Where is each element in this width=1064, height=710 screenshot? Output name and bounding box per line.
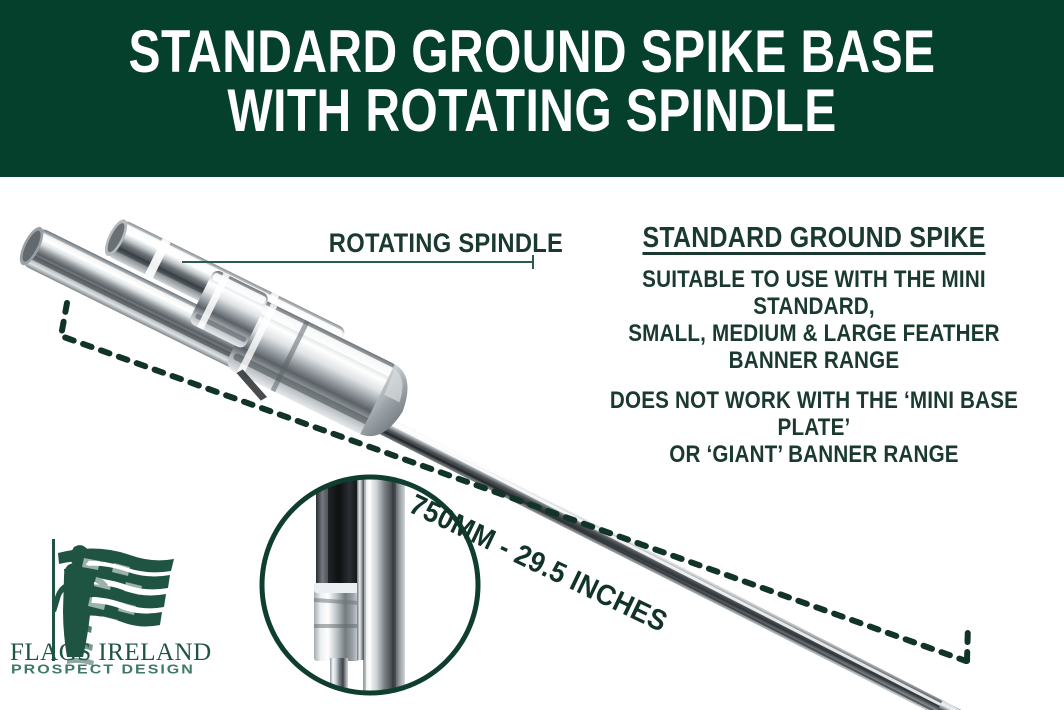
detail-inset	[258, 465, 482, 703]
info-paragraph-incompatible: DOES NOT WORK WITH THE ‘MINI BASE PLATE’…	[599, 387, 1029, 468]
spike-info-block: STANDARD GROUND SPIKE SUITABLE TO USE WI…	[599, 222, 1029, 468]
logo-sub-wordmark: PROSPECT DESIGN	[11, 664, 176, 676]
header-banner: STANDARD GROUND SPIKE BASEWITH ROTATING …	[0, 0, 1064, 177]
callout-leader-line	[182, 261, 533, 263]
rotating-spindle-callout-label: ROTATING SPINDLE	[329, 228, 540, 258]
callout-leader-tick	[532, 255, 534, 269]
dimension-label: 750MM - 29.5 INCHES	[404, 489, 672, 640]
title-line-2: WITH ROTATING SPINDLE	[227, 77, 836, 144]
info-heading: STANDARD GROUND SPIKE	[599, 222, 1029, 255]
logo-wordmark: FLAGS IRELAND	[10, 640, 175, 665]
infographic-canvas: STANDARD GROUND SPIKE BASEWITH ROTATING …	[0, 0, 1064, 710]
title-line-1: STANDARD GROUND SPIKE BASE	[129, 18, 936, 85]
info-paragraph-compatible: SUITABLE TO USE WITH THE MINI STANDARD, …	[599, 266, 1029, 374]
page-title: STANDARD GROUND SPIKE BASEWITH ROTATING …	[106, 22, 957, 140]
